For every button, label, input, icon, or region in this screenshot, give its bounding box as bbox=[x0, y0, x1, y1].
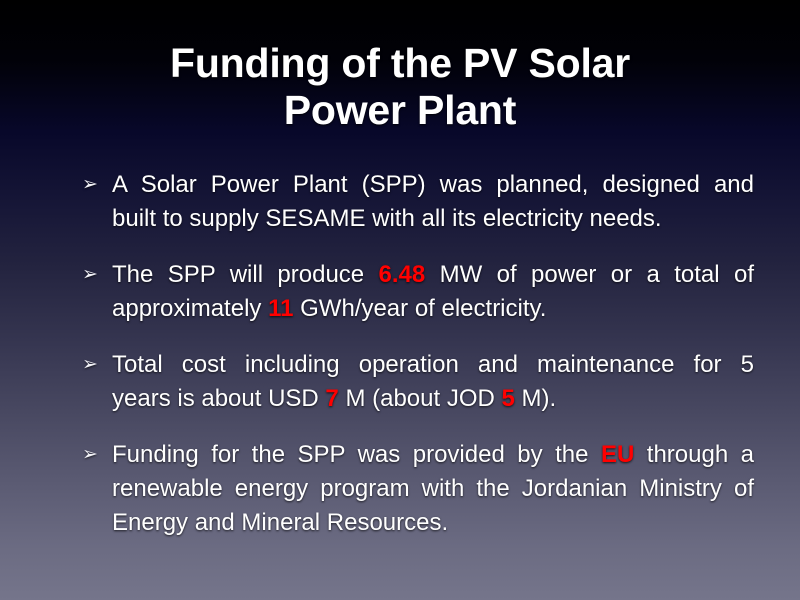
text-line: The SPP will produce 6.48 MW of power or… bbox=[112, 258, 754, 292]
text-run: GWh/year of electricity. bbox=[293, 295, 546, 322]
slide-title-line-2: Power Plant bbox=[284, 87, 516, 133]
highlighted-value: 5 bbox=[502, 385, 515, 412]
slide-title: Funding of the PV Solar Power Plant bbox=[60, 40, 740, 133]
text-run: The SPP will produce bbox=[112, 261, 379, 288]
slide-body-bullet-list: ➢A Solar Power Plant (SPP) was planned, … bbox=[82, 168, 754, 540]
text-run: Funding for the SPP was provided by the bbox=[112, 441, 601, 468]
text-run: Total cost including operation and maint… bbox=[112, 351, 754, 378]
presentation-slide: Funding of the PV Solar Power Plant ➢A S… bbox=[0, 0, 800, 600]
highlighted-value: 7 bbox=[325, 385, 338, 412]
list-item-text: The SPP will produce 6.48 MW of power or… bbox=[112, 258, 754, 326]
text-line: renewable energy program with the Jordan… bbox=[112, 472, 754, 506]
text-line: approximately 11 GWh/year of electricity… bbox=[112, 292, 754, 326]
list-item-text: Total cost including operation and maint… bbox=[112, 348, 754, 416]
list-item-text: Funding for the SPP was provided by the … bbox=[112, 438, 754, 540]
text-line: years is about USD 7 M (about JOD 5 M). bbox=[112, 382, 754, 416]
text-run: built to supply SESAME with all its elec… bbox=[112, 205, 662, 232]
text-run: M (about JOD bbox=[339, 385, 502, 412]
chevron-right-bullet-icon: ➢ bbox=[82, 168, 112, 202]
text-line: Energy and Mineral Resources. bbox=[112, 506, 754, 540]
highlighted-value: 11 bbox=[268, 295, 293, 322]
text-run: A Solar Power Plant (SPP) was planned, d… bbox=[112, 171, 754, 198]
chevron-right-bullet-icon: ➢ bbox=[82, 438, 112, 472]
list-item: ➢Funding for the SPP was provided by the… bbox=[82, 438, 754, 540]
list-item-text: A Solar Power Plant (SPP) was planned, d… bbox=[112, 168, 754, 236]
highlighted-value: 6.48 bbox=[379, 261, 426, 288]
chevron-right-bullet-icon: ➢ bbox=[82, 258, 112, 292]
text-run: years is about USD bbox=[112, 385, 325, 412]
text-line: Funding for the SPP was provided by the … bbox=[112, 438, 754, 472]
text-run: through a bbox=[634, 441, 754, 468]
text-run: approximately bbox=[112, 295, 268, 322]
text-run: M). bbox=[515, 385, 556, 412]
text-line: Total cost including operation and maint… bbox=[112, 348, 754, 382]
text-run: renewable energy program with the Jordan… bbox=[112, 475, 754, 502]
chevron-right-bullet-icon: ➢ bbox=[82, 348, 112, 382]
text-line: built to supply SESAME with all its elec… bbox=[112, 202, 754, 236]
list-item: ➢Total cost including operation and main… bbox=[82, 348, 754, 416]
list-item: ➢A Solar Power Plant (SPP) was planned, … bbox=[82, 168, 754, 236]
highlighted-value: EU bbox=[601, 441, 634, 468]
list-item: ➢The SPP will produce 6.48 MW of power o… bbox=[82, 258, 754, 326]
text-run: MW of power or a total of bbox=[425, 261, 754, 288]
slide-title-line-1: Funding of the PV Solar bbox=[170, 40, 630, 86]
text-run: Energy and Mineral Resources. bbox=[112, 509, 448, 536]
text-line: A Solar Power Plant (SPP) was planned, d… bbox=[112, 168, 754, 202]
